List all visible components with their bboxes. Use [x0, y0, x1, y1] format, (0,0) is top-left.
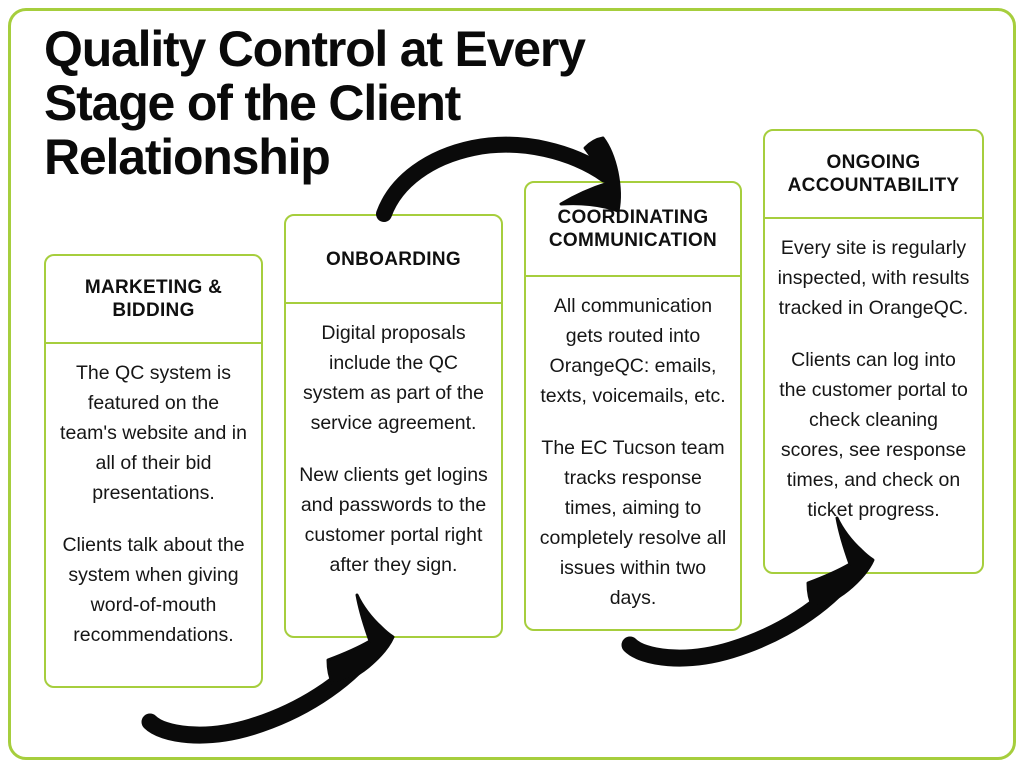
diagram-canvas: Quality Control at Every Stage of the Cl…	[0, 0, 1024, 768]
stage-title-coordinating-communication: COORDINATING COMMUNICATION	[549, 206, 717, 252]
stage-paragraph: Clients talk about the system when givin…	[58, 530, 249, 650]
stage-paragraph: Clients can log into the customer portal…	[777, 345, 970, 525]
stage-title-marketing-bidding: MARKETING & BIDDING	[85, 276, 222, 322]
stage-card-coordinating-communication[interactable]: COORDINATING COMMUNICATION All communica…	[524, 181, 742, 631]
page-title: Quality Control at Every Stage of the Cl…	[44, 22, 684, 184]
stage-body-ongoing-accountability: Every site is regularly inspected, with …	[765, 219, 982, 572]
stage-paragraph: The QC system is featured on the team's …	[58, 358, 249, 508]
stage-body-coordinating-communication: All communication gets routed into Orang…	[526, 277, 740, 629]
stage-paragraph: New clients get logins and passwords to …	[298, 460, 489, 580]
stage-card-header: ONGOING ACCOUNTABILITY	[765, 131, 982, 219]
stage-card-header: MARKETING & BIDDING	[46, 256, 261, 344]
stage-title-onboarding: ONBOARDING	[326, 248, 461, 271]
stage-body-onboarding: Digital proposals include the QC system …	[286, 304, 501, 636]
stage-title-ongoing-accountability: ONGOING ACCOUNTABILITY	[788, 151, 960, 197]
stage-body-marketing-bidding: The QC system is featured on the team's …	[46, 344, 261, 686]
stage-card-header: COORDINATING COMMUNICATION	[526, 183, 740, 277]
stage-paragraph: Digital proposals include the QC system …	[298, 318, 489, 438]
stage-paragraph: The EC Tucson team tracks response times…	[538, 433, 728, 613]
stage-card-header: ONBOARDING	[286, 216, 501, 304]
stage-paragraph: All communication gets routed into Orang…	[538, 291, 728, 411]
stage-card-ongoing-accountability[interactable]: ONGOING ACCOUNTABILITY Every site is reg…	[763, 129, 984, 574]
stage-paragraph: Every site is regularly inspected, with …	[777, 233, 970, 323]
stage-card-onboarding[interactable]: ONBOARDING Digital proposals include the…	[284, 214, 503, 638]
stage-card-marketing-bidding[interactable]: MARKETING & BIDDING The QC system is fea…	[44, 254, 263, 688]
